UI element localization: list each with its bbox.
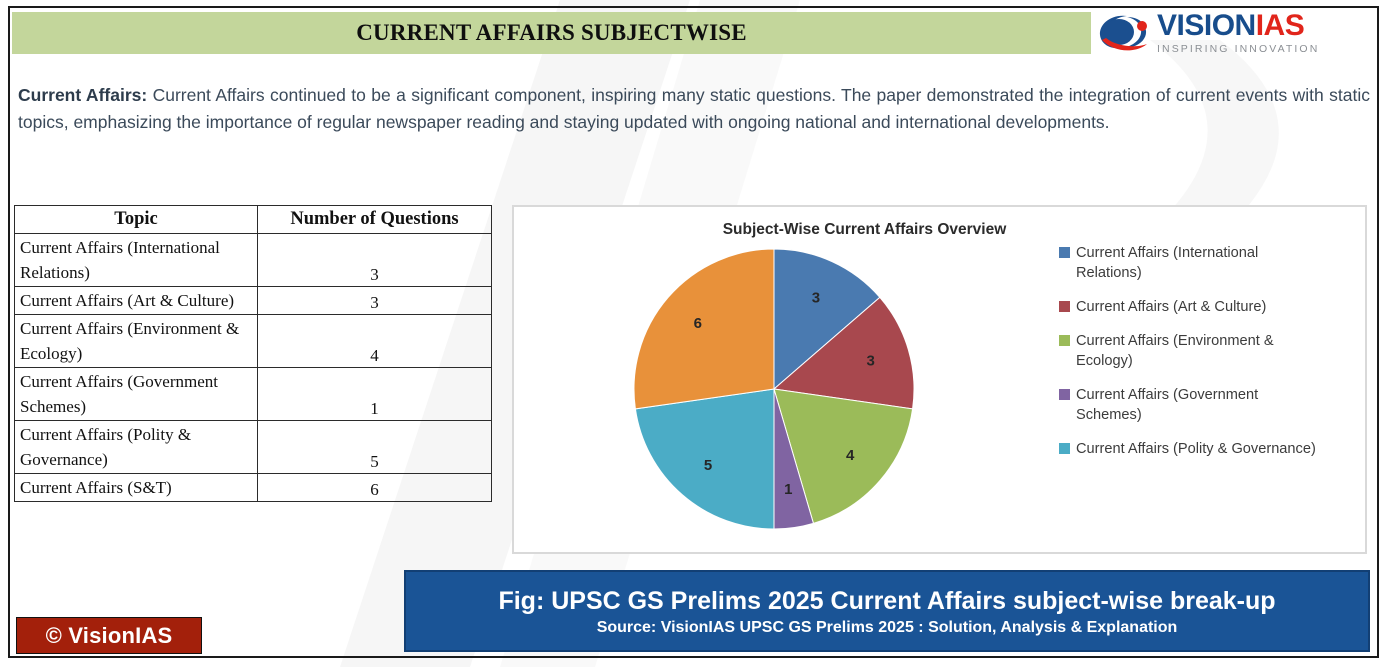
- legend-item: Current Affairs (Art & Culture): [1059, 297, 1359, 317]
- table-header-count: Number of Questions: [258, 206, 492, 234]
- pie-slice-label: 1: [784, 481, 792, 498]
- legend-swatch-icon: [1059, 389, 1070, 400]
- visionias-logo: VISIONIAS INSPIRING INNOVATION: [1097, 9, 1373, 57]
- figure-caption-bar: Fig: UPSC GS Prelims 2025 Current Affair…: [404, 570, 1370, 652]
- copyright-label: © VisionIAS: [46, 623, 173, 649]
- table-cell-topic: Current Affairs (Art & Culture): [15, 287, 258, 315]
- intro-paragraph: Current Affairs: Current Affairs continu…: [18, 82, 1370, 136]
- intro-paragraph-lead: Current Affairs:: [18, 85, 147, 105]
- legend-item: Current Affairs (International Relations…: [1059, 243, 1359, 283]
- figure-caption-source: Source: VisionIAS UPSC GS Prelims 2025 :…: [597, 619, 1178, 637]
- table-cell-count: 3: [258, 234, 492, 287]
- legend-item-label: Current Affairs (Government Schemes): [1076, 385, 1326, 425]
- table-row: Current Affairs (Environment & Ecology) …: [15, 315, 492, 368]
- table-cell-count: 3: [258, 287, 492, 315]
- legend-swatch-icon: [1059, 335, 1070, 346]
- pie-slice: [634, 249, 774, 409]
- legend-item-label: Current Affairs (Environment & Ecology): [1076, 331, 1326, 371]
- page-title: CURRENT AFFAIRS SUBJECTWISE: [356, 20, 747, 46]
- slide-page: CURRENT AFFAIRS SUBJECTWISE VISIONIAS IN…: [0, 0, 1387, 667]
- pie-chart-svg: 334156: [624, 239, 924, 539]
- table-cell-count: 6: [258, 474, 492, 502]
- table-row: Current Affairs (Art & Culture) 3: [15, 287, 492, 315]
- pie-slice-label: 5: [704, 457, 712, 474]
- legend-item: Current Affairs (Government Schemes): [1059, 385, 1359, 425]
- pie-slice-label: 4: [846, 447, 855, 464]
- legend-item-label: Current Affairs (International Relations…: [1076, 243, 1326, 283]
- legend-swatch-icon: [1059, 301, 1070, 312]
- chart-title: Subject-Wise Current Affairs Overview: [514, 221, 1365, 239]
- table-row: Current Affairs (Polity & Governance) 5: [15, 421, 492, 474]
- pie-chart: 334156: [624, 239, 924, 539]
- pie-slice-label: 3: [867, 353, 875, 370]
- questions-table-wrapper: Topic Number of Questions Current Affair…: [14, 205, 491, 502]
- questions-table: Topic Number of Questions Current Affair…: [14, 205, 492, 502]
- table-row: Current Affairs (International Relations…: [15, 234, 492, 287]
- copyright-badge: © VisionIAS: [16, 617, 202, 654]
- intro-paragraph-body: Current Affairs continued to be a signif…: [18, 85, 1370, 132]
- table-cell-topic: Current Affairs (S&T): [15, 474, 258, 502]
- figure-caption-main: Fig: UPSC GS Prelims 2025 Current Affair…: [498, 586, 1275, 616]
- table-cell-topic: Current Affairs (Environment & Ecology): [15, 315, 258, 368]
- table-cell-count: 1: [258, 368, 492, 421]
- chart-legend: Current Affairs (International Relations…: [1059, 243, 1359, 473]
- table-body: Current Affairs (International Relations…: [15, 234, 492, 502]
- legend-swatch-icon: [1059, 247, 1070, 258]
- table-row: Current Affairs (Government Schemes) 1: [15, 368, 492, 421]
- legend-item: Current Affairs (Environment & Ecology): [1059, 331, 1359, 371]
- legend-item-label: Current Affairs (Art & Culture): [1076, 297, 1266, 317]
- logo-tagline: INSPIRING INNOVATION: [1157, 44, 1319, 55]
- table-row: Current Affairs (S&T) 6: [15, 474, 492, 502]
- pie-slice-label: 6: [694, 315, 702, 332]
- legend-swatch-icon: [1059, 443, 1070, 454]
- logo-mark-icon: [1097, 12, 1153, 54]
- table-cell-count: 5: [258, 421, 492, 474]
- table-cell-count: 4: [258, 315, 492, 368]
- table-cell-topic: Current Affairs (International Relations…: [15, 234, 258, 287]
- table-cell-topic: Current Affairs (Government Schemes): [15, 368, 258, 421]
- legend-item-label: Current Affairs (Polity & Governance): [1076, 439, 1316, 459]
- logo-word-ias: IAS: [1256, 9, 1305, 42]
- legend-item: Current Affairs (Polity & Governance): [1059, 439, 1359, 459]
- table-cell-topic: Current Affairs (Polity & Governance): [15, 421, 258, 474]
- chart-panel: Subject-Wise Current Affairs Overview 33…: [512, 205, 1367, 554]
- logo-word-vision: VISION: [1157, 9, 1256, 42]
- header-band: CURRENT AFFAIRS SUBJECTWISE: [12, 12, 1091, 54]
- pie-slice-label: 3: [812, 289, 820, 306]
- table-header-row: Topic Number of Questions: [15, 206, 492, 234]
- table-header-topic: Topic: [15, 206, 258, 234]
